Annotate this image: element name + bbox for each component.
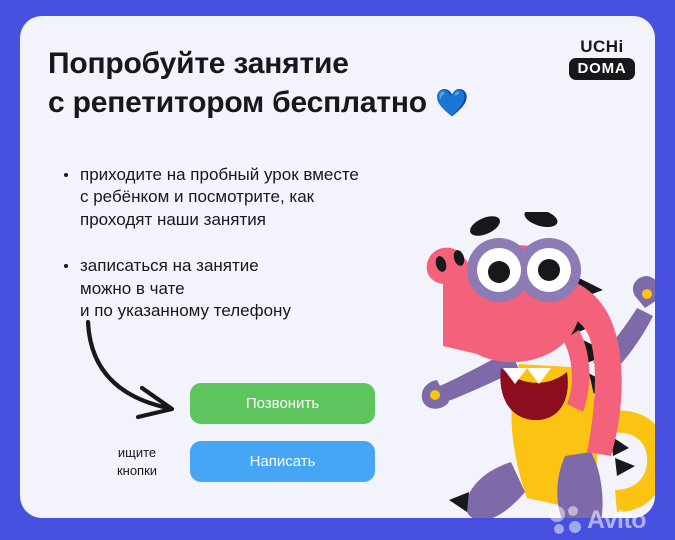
call-button[interactable]: Позвонить <box>190 383 375 424</box>
promo-card: UCHi DOMA Попробуйте занятие с репетитор… <box>20 16 655 518</box>
arrow-caption-line-1: ищите <box>82 444 192 462</box>
list-item-line: записаться на занятие <box>80 255 482 277</box>
list-item-line: приходите на пробный урок вместе <box>80 164 482 186</box>
page-title: Попробуйте занятие с репетитором бесплат… <box>48 44 568 122</box>
blue-heart-icon: 💙 <box>435 88 468 118</box>
bullet-dot-icon <box>64 264 68 268</box>
list-item: записаться на занятие можно в чате и по … <box>62 255 482 322</box>
brand-logo-word: UCHi <box>569 38 635 55</box>
arrow-caption: ищите кнопки <box>82 444 192 480</box>
curved-arrow-icon <box>80 316 200 426</box>
brand-logo: UCHi DOMA <box>569 38 635 80</box>
list-item-line: можно в чате <box>80 278 482 300</box>
list-item-line: с ребёнком и посмотрите, как <box>80 186 482 208</box>
page-title-line-2: с репетитором бесплатно 💙 <box>48 83 568 122</box>
page-title-line-2-text: с репетитором бесплатно <box>48 86 427 119</box>
page-title-line-1: Попробуйте занятие <box>48 44 568 83</box>
arrow-caption-line-2: кнопки <box>82 462 192 480</box>
write-button[interactable]: Написать <box>190 441 375 482</box>
promo-poster: UCHi DOMA Попробуйте занятие с репетитор… <box>0 0 675 540</box>
brand-logo-pill: DOMA <box>569 58 635 80</box>
list-item-line: проходят наши занятия <box>80 209 482 231</box>
list-item: приходите на пробный урок вместе с ребён… <box>62 164 482 231</box>
bullet-dot-icon <box>64 173 68 177</box>
benefit-list: приходите на пробный урок вместе с ребён… <box>62 164 482 323</box>
